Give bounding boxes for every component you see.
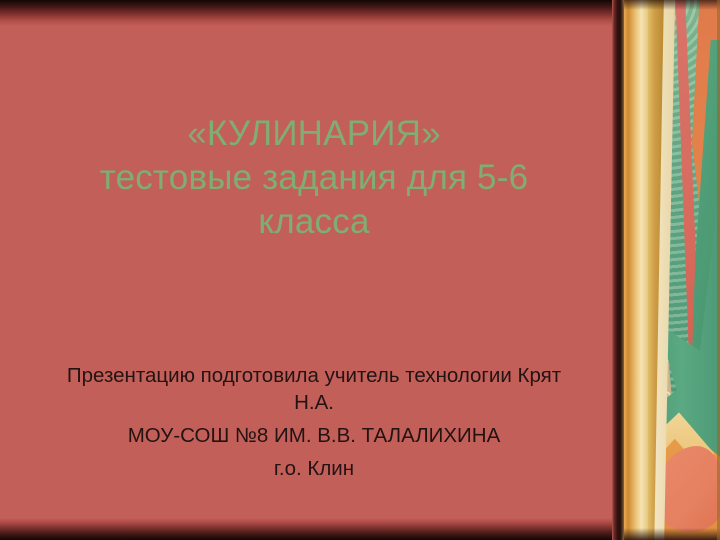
subtitle-city: г.о. Клин <box>54 455 574 482</box>
slide-subtitle: Презентацию подготовила учитель технолог… <box>54 362 574 482</box>
decorative-panel-edge <box>612 0 624 540</box>
subtitle-school: МОУ-СОШ №8 ИМ. В.В. ТАЛАЛИХИНА <box>54 422 574 449</box>
subtitle-author: Презентацию подготовила учитель технолог… <box>54 362 574 416</box>
decorative-border-panel <box>612 0 720 540</box>
title-line-3: класса <box>54 200 574 244</box>
slide-title: «КУЛИНАРИЯ» тестовые задания для 5-6 кла… <box>54 112 574 244</box>
decorative-panel-inner <box>622 0 720 540</box>
title-line-1: «КУЛИНАРИЯ» <box>54 112 574 156</box>
presentation-title-slide: «КУЛИНАРИЯ» тестовые задания для 5-6 кла… <box>0 0 720 540</box>
title-line-2: тестовые задания для 5-6 <box>54 156 574 200</box>
decorative-gold-ribbon-outer <box>622 0 648 540</box>
